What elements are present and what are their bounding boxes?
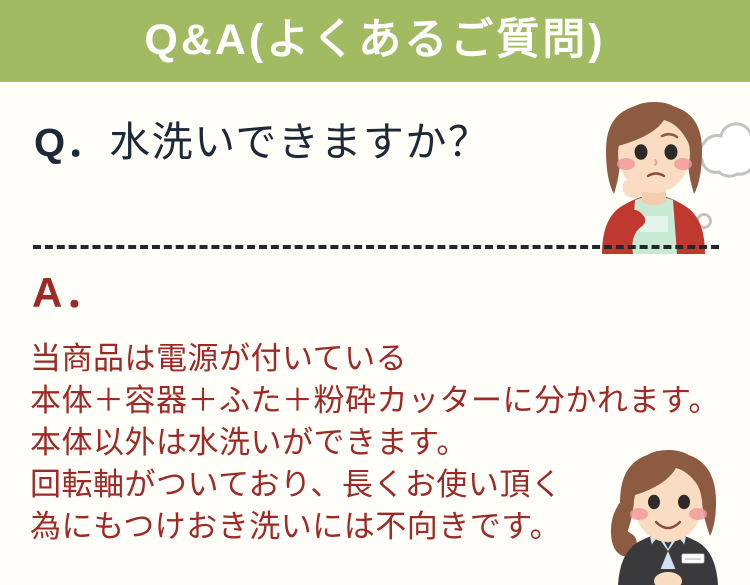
question-row: Q． 水洗いできますか？ — [34, 122, 490, 163]
answer-line: 当商品は電源が付いている — [30, 338, 720, 380]
staff-woman-illustration — [600, 442, 750, 585]
page-header-banner: Q&A(よくあるご質問) — [0, 0, 750, 82]
qa-page: Q&A(よくあるご質問) Q． 水洗いできますか？ — [0, 0, 750, 585]
section-divider — [33, 245, 719, 249]
question-marker: Q． — [34, 123, 107, 163]
answer-line: 本体＋容器＋ふた＋粉砕カッターに分かれます。 — [30, 380, 720, 422]
question-text: 水洗いできますか？ — [109, 122, 490, 163]
thinking-woman-icon — [578, 88, 750, 254]
staff-woman-icon — [600, 442, 750, 585]
thinking-woman-illustration — [578, 88, 750, 254]
page-title: Q&A(よくあるご質問) — [144, 19, 605, 64]
answer-marker: A． — [32, 272, 108, 314]
